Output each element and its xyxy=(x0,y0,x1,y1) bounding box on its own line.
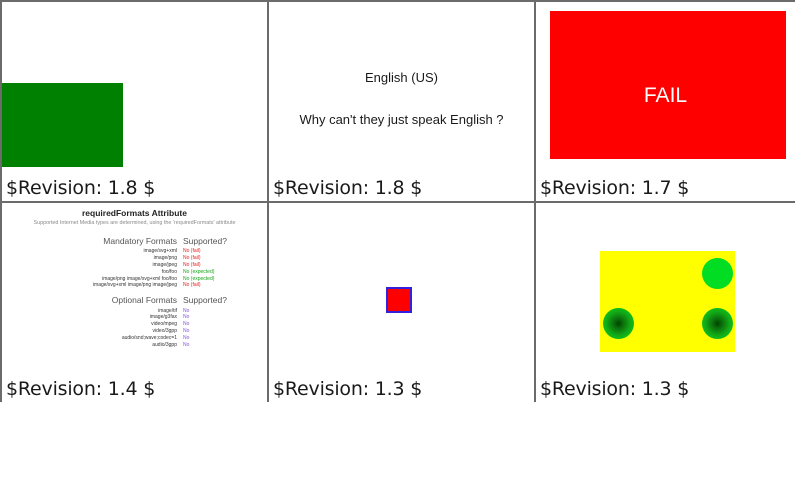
revision-label: $Revision: 1.3 $ xyxy=(273,378,422,400)
table-row: foo/fooNo (expected) xyxy=(2,269,267,276)
header-support: Supported? xyxy=(177,230,267,248)
test-cell-language-text[interactable]: English (US) Why can't they just speak E… xyxy=(267,0,534,201)
support-value: No xyxy=(177,342,267,349)
table-row: image/svg+xmlNo (fail) xyxy=(2,248,267,255)
support-value: No xyxy=(177,308,267,315)
required-formats-table: Mandatory Formats Supported? image/svg+x… xyxy=(2,230,267,348)
support-value: No (fail) xyxy=(177,255,267,262)
green-circle-bottom-left xyxy=(603,308,634,339)
format-name: audio/snd;wave;codec=1 xyxy=(2,335,177,342)
report-subtitle: Supported Internet Media types are deter… xyxy=(2,220,267,226)
format-name: foo/foo xyxy=(2,269,177,276)
green-circle-top-right xyxy=(702,258,733,289)
language-question: Why can't they just speak English ? xyxy=(269,112,534,127)
test-cell-green-rect[interactable]: $Revision: 1.8 $ xyxy=(0,0,267,201)
format-name: image/tif xyxy=(2,308,177,315)
green-rectangle xyxy=(2,83,123,167)
header-support: Supported? xyxy=(177,289,267,307)
support-value: No (fail) xyxy=(177,262,267,269)
table-header-optional: Optional FormatsSupported? xyxy=(2,289,267,307)
support-value: No (expected) xyxy=(177,269,267,276)
cell-stage: requiredFormats Attribute Supported Inte… xyxy=(2,203,267,402)
red-square-shape xyxy=(386,287,412,313)
fail-banner-text: FAIL xyxy=(536,84,795,108)
table-row: audio/snd;wave;codec=1No xyxy=(2,335,267,342)
format-name: video/3gpp xyxy=(2,328,177,335)
test-cell-fail-banner[interactable]: FAIL $Revision: 1.7 $ xyxy=(534,0,795,201)
cell-stage xyxy=(2,2,267,201)
table-row: video/3gppNo xyxy=(2,328,267,335)
table-row: video/mpegNo xyxy=(2,321,267,328)
table-row: image/g3faxNo xyxy=(2,314,267,321)
test-cell-yellow-dots[interactable]: $Revision: 1.3 $ xyxy=(534,201,795,402)
results-grid: $Revision: 1.8 $ English (US) Why can't … xyxy=(0,0,795,402)
table-row: image/tifNo xyxy=(2,308,267,315)
revision-label: $Revision: 1.7 $ xyxy=(540,177,689,199)
support-value: No xyxy=(177,328,267,335)
green-circle-bottom-right xyxy=(702,308,733,339)
header-format: Mandatory Formats xyxy=(2,230,177,248)
support-value: No xyxy=(177,321,267,328)
table-row: image/png image/svg+xml foo/fooNo (expec… xyxy=(2,276,267,283)
revision-label: $Revision: 1.4 $ xyxy=(6,378,155,400)
format-name: video/mpeg xyxy=(2,321,177,328)
revision-label: $Revision: 1.3 $ xyxy=(540,378,689,400)
table-row: image/jpegNo (fail) xyxy=(2,262,267,269)
support-value: No (expected) xyxy=(177,276,267,283)
format-name: image/png xyxy=(2,255,177,262)
report-title: requiredFormats Attribute xyxy=(2,208,267,218)
support-value: No (fail) xyxy=(177,282,267,289)
format-name: image/png image/svg+xml foo/foo xyxy=(2,276,177,283)
format-name: image/svg+xml image/png image/jpeg xyxy=(2,282,177,289)
cell-stage: FAIL xyxy=(536,2,795,201)
table-row: image/svg+xml image/png image/jpegNo (fa… xyxy=(2,282,267,289)
format-name: image/svg+xml xyxy=(2,248,177,255)
cell-stage xyxy=(269,203,534,402)
format-name: audio/3gpp xyxy=(2,342,177,349)
revision-label: $Revision: 1.8 $ xyxy=(273,177,422,199)
cell-stage: English (US) Why can't they just speak E… xyxy=(269,2,534,201)
support-value: No xyxy=(177,335,267,342)
language-label: English (US) xyxy=(269,70,534,85)
table-row: audio/3gppNo xyxy=(2,342,267,349)
header-format: Optional Formats xyxy=(2,289,177,307)
test-cell-required-formats[interactable]: requiredFormats Attribute Supported Inte… xyxy=(0,201,267,402)
support-value: No (fail) xyxy=(177,248,267,255)
table-header-mandatory: Mandatory Formats Supported? xyxy=(2,230,267,248)
format-name: image/g3fax xyxy=(2,314,177,321)
table-row: image/pngNo (fail) xyxy=(2,255,267,262)
support-value: No xyxy=(177,314,267,321)
format-name: image/jpeg xyxy=(2,262,177,269)
revision-label: $Revision: 1.8 $ xyxy=(6,177,155,199)
cell-stage xyxy=(536,203,795,402)
test-cell-red-square[interactable]: $Revision: 1.3 $ xyxy=(267,201,534,402)
